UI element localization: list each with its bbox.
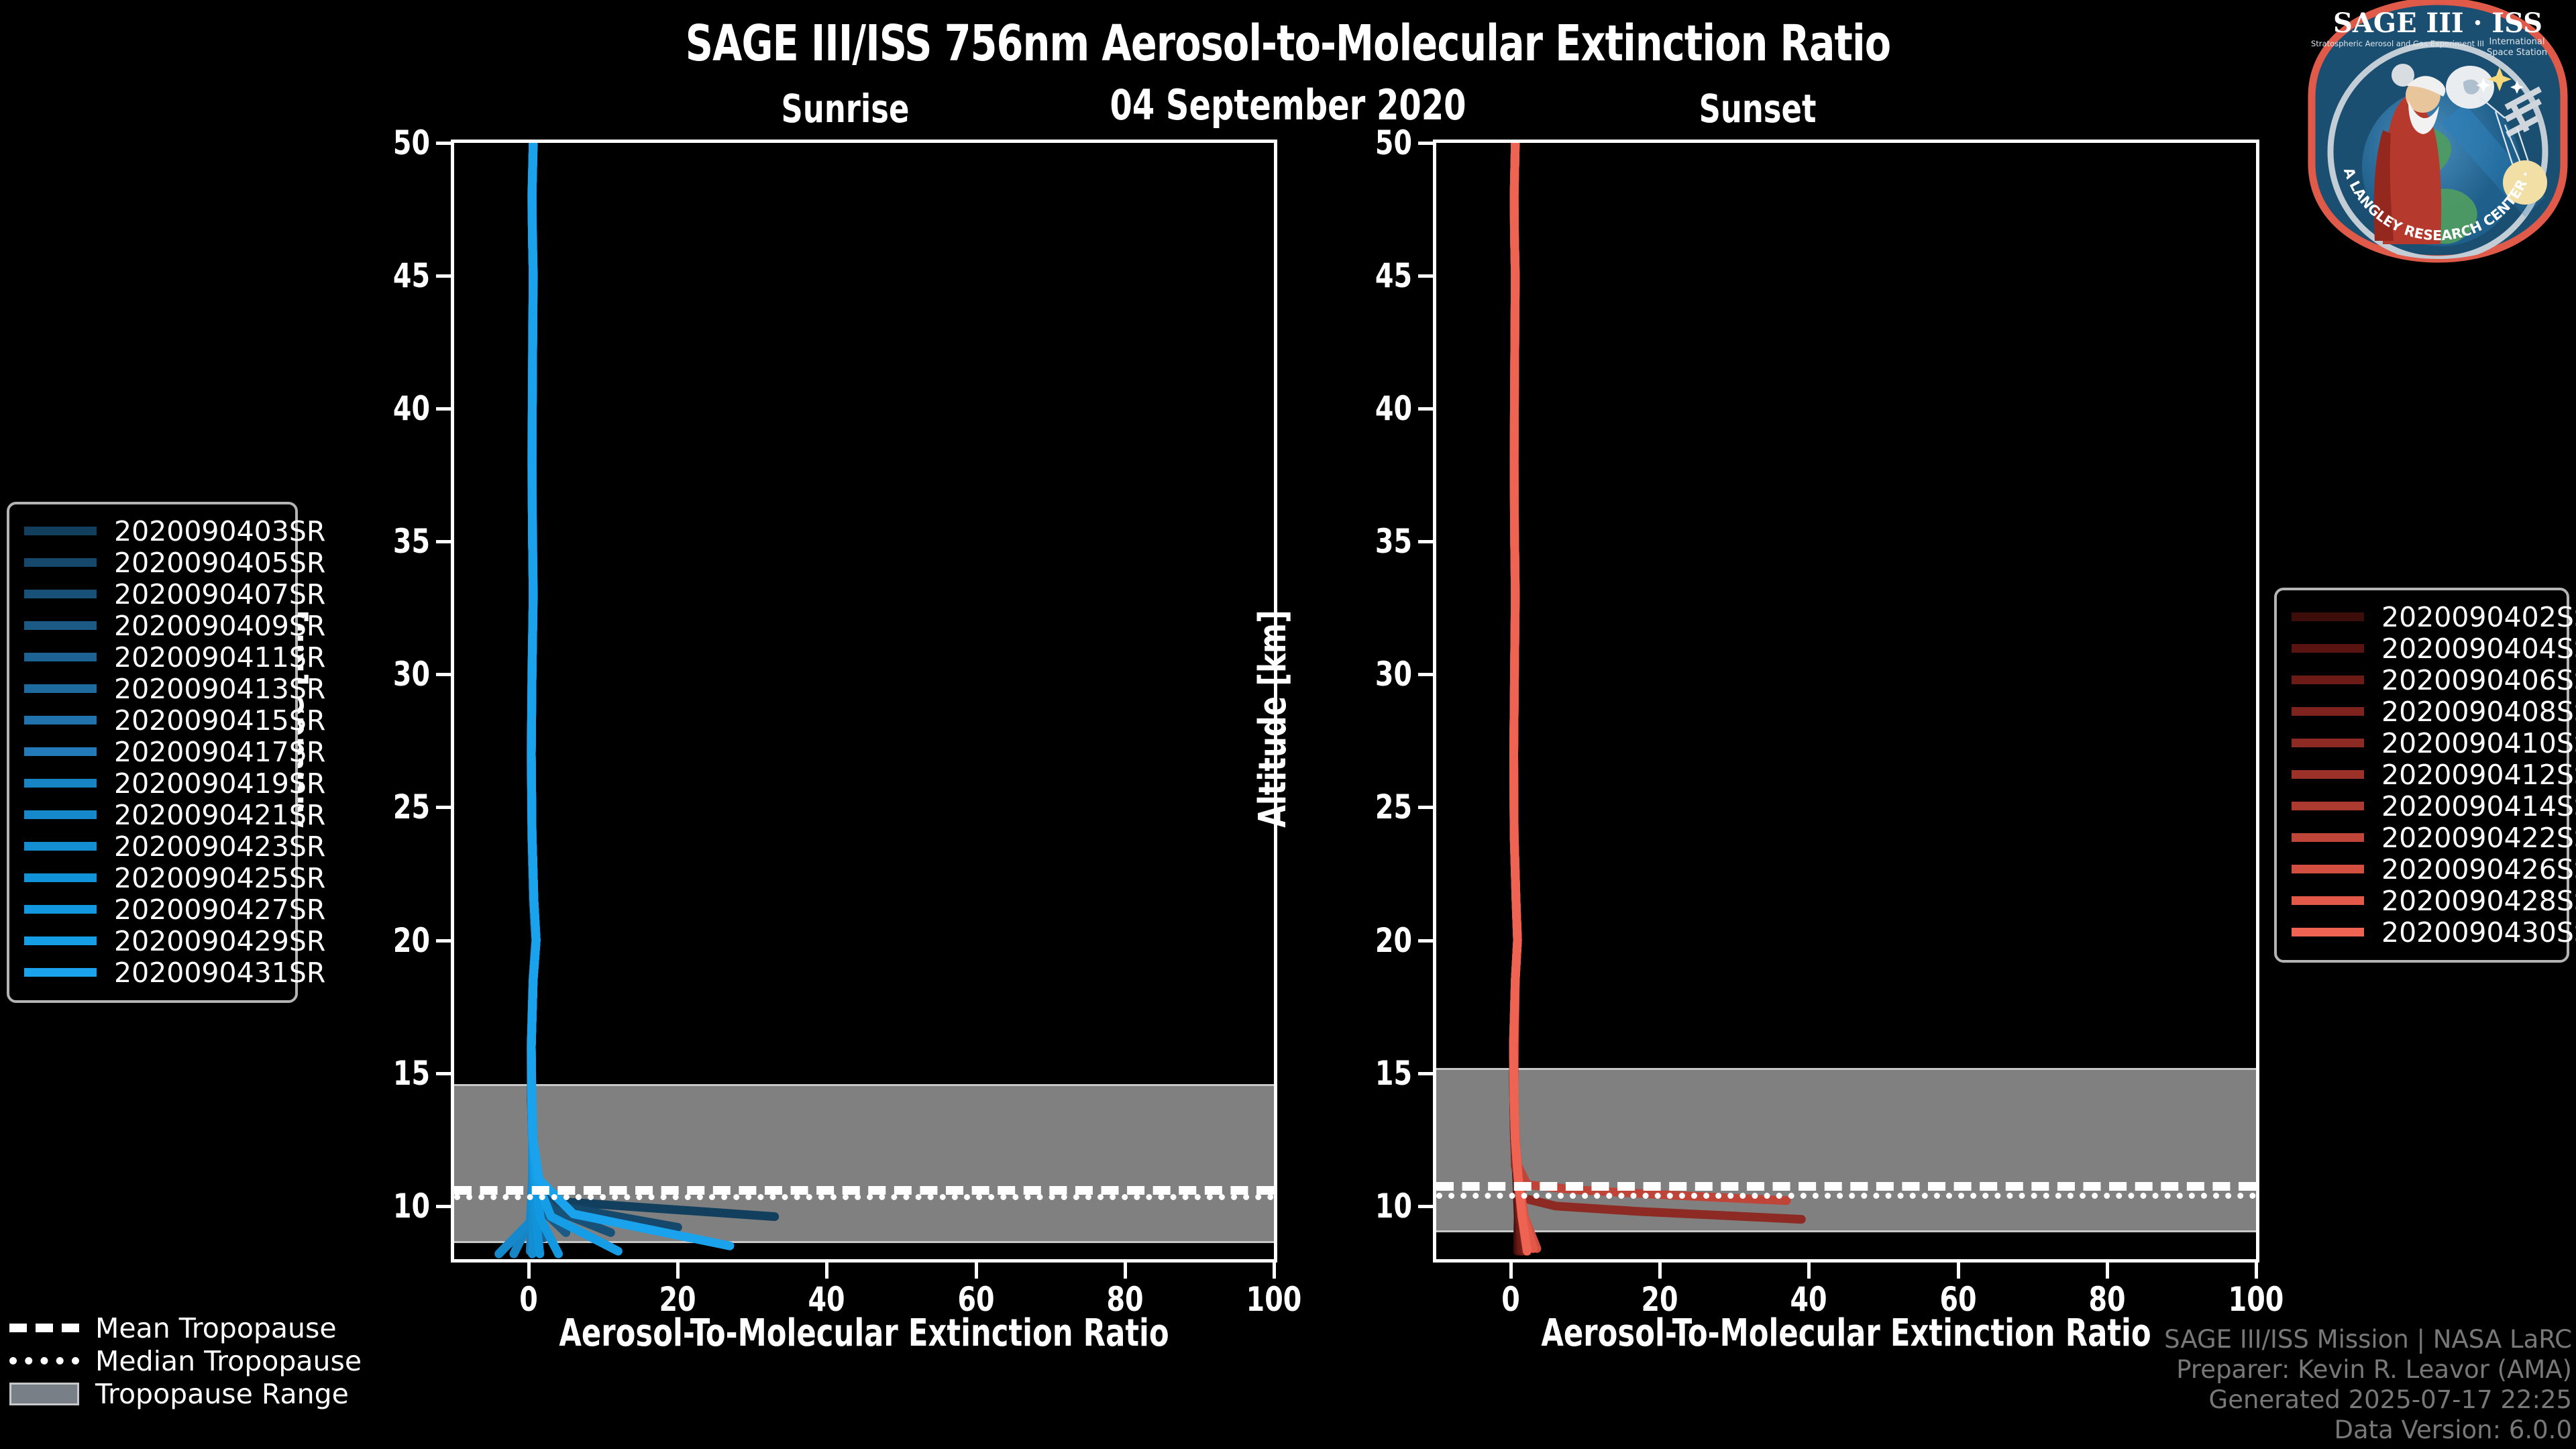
legend-label: 2020090431SR xyxy=(114,957,325,989)
legend-color-swatch xyxy=(24,936,97,945)
legend-label: 2020090425SR xyxy=(114,862,325,894)
legend-color-swatch xyxy=(2292,770,2364,779)
legend-item-tropopause-range: Tropopause Range xyxy=(9,1377,358,1410)
figure-subtitle-date: 04 September 2020 xyxy=(180,80,2396,129)
y-tick-mark xyxy=(1418,939,1433,943)
legend-color-swatch xyxy=(24,905,97,914)
y-tick-mark xyxy=(436,1072,451,1075)
credit-line: Preparer: Kevin R. Leavor (AMA) xyxy=(2164,1354,2572,1385)
legend-label: 2020090423SR xyxy=(114,830,325,863)
legend-color-swatch xyxy=(24,558,97,567)
patch-subtitle-right-1: International xyxy=(2489,37,2545,47)
legend-color-swatch xyxy=(2292,802,2364,810)
y-tick-mark xyxy=(1418,274,1433,278)
plot-area-sunset xyxy=(1433,140,2259,1263)
legend-item-mean-tropopause: Mean Tropopause xyxy=(9,1311,358,1344)
legend-color-swatch xyxy=(2292,865,2364,873)
legend-label: 2020090428SS xyxy=(2381,885,2576,917)
y-tick-label: 35 xyxy=(1324,522,1412,561)
legend-color-swatch xyxy=(24,716,97,724)
legend-color-swatch xyxy=(24,527,97,535)
legend-item[interactable]: 2020090407SR xyxy=(24,578,280,610)
legend-label: 2020090405SR xyxy=(114,547,325,579)
legend-item[interactable]: 2020090421SR xyxy=(24,799,280,830)
series-line xyxy=(531,143,610,1232)
y-tick-label: 50 xyxy=(1324,123,1412,162)
credit-line: SAGE III/ISS Mission | NASA LaRC xyxy=(2164,1324,2572,1354)
y-tick-mark xyxy=(436,142,451,145)
y-tick-label: 10 xyxy=(341,1187,430,1226)
y-tick-label: 30 xyxy=(1324,655,1412,694)
dotted-line-icon xyxy=(9,1357,79,1364)
legend-item[interactable]: 2020090430SS xyxy=(2292,916,2552,948)
legend-item[interactable]: 2020090412SS xyxy=(2292,759,2552,790)
series-line xyxy=(531,143,678,1228)
legend-color-swatch xyxy=(2292,833,2364,842)
x-tick-mark xyxy=(975,1263,978,1279)
legend-item[interactable]: 2020090415SR xyxy=(24,704,280,736)
x-tick-mark xyxy=(2106,1263,2109,1279)
y-tick-label: 50 xyxy=(341,123,430,162)
patch-title: SAGE III · ISS xyxy=(2333,7,2542,39)
y-tick-mark xyxy=(436,1205,451,1208)
median-tropopause-line xyxy=(1436,1193,2256,1199)
legend-item[interactable]: 2020090426SS xyxy=(2292,853,2552,885)
y-tick-label: 45 xyxy=(341,256,430,295)
legend-color-swatch xyxy=(24,810,97,819)
legend-color-swatch xyxy=(24,842,97,851)
y-tick-mark xyxy=(436,939,451,943)
y-tick-mark xyxy=(436,806,451,809)
y-tick-mark xyxy=(1418,407,1433,411)
legend-label: 2020090417SR xyxy=(114,736,325,768)
legend-tropopause: Mean Tropopause Median Tropopause Tropop… xyxy=(9,1311,358,1410)
y-tick-mark xyxy=(436,673,451,676)
series-line xyxy=(1514,143,1802,1220)
legend-item[interactable]: 2020090431SR xyxy=(24,957,280,988)
legend-color-swatch xyxy=(24,684,97,693)
x-tick-label: 100 xyxy=(2197,1280,2315,1319)
legend-item-median-tropopause: Median Tropopause xyxy=(9,1344,358,1377)
y-tick-label: 25 xyxy=(1324,788,1412,826)
panel-label-sunset: Sunset xyxy=(1642,86,1873,131)
legend-item[interactable]: 2020090419SR xyxy=(24,767,280,799)
credits-block: SAGE III/ISS Mission | NASA LaRCPreparer… xyxy=(2164,1324,2572,1446)
legend-color-swatch xyxy=(24,653,97,661)
legend-sunset-events[interactable]: 2020090402SS2020090404SS2020090406SS2020… xyxy=(2274,588,2569,963)
legend-color-swatch xyxy=(2292,896,2364,905)
figure-canvas: SAGE III/ISS 756nm Aerosol-to-Molecular … xyxy=(0,0,2576,1449)
legend-color-swatch xyxy=(24,968,97,977)
legend-label: 2020090413SR xyxy=(114,673,325,705)
legend-item[interactable]: 2020090422SS xyxy=(2292,822,2552,853)
legend-label: 2020090412SS xyxy=(2381,759,2576,791)
panel-label-sunrise: Sunrise xyxy=(730,86,961,131)
legend-color-swatch xyxy=(24,590,97,598)
x-tick-mark xyxy=(1273,1263,1276,1279)
y-tick-label: 35 xyxy=(341,522,430,561)
x-tick-mark xyxy=(1509,1263,1513,1279)
y-tick-mark xyxy=(436,407,451,411)
legend-label: 2020090419SR xyxy=(114,767,325,800)
legend-label: 2020090430SS xyxy=(2381,916,2576,949)
y-tick-mark xyxy=(436,540,451,543)
y-tick-label: 15 xyxy=(341,1054,430,1093)
legend-color-swatch xyxy=(2292,676,2364,684)
x-tick-mark xyxy=(825,1263,828,1279)
x-tick-mark xyxy=(1957,1263,1960,1279)
legend-label: 2020090410SS xyxy=(2381,727,2576,759)
legend-color-swatch xyxy=(24,873,97,882)
y-tick-mark xyxy=(1418,540,1433,543)
legend-color-swatch xyxy=(2292,707,2364,716)
legend-item[interactable]: 2020090404SS xyxy=(2292,633,2552,664)
legend-item[interactable]: 2020090409SR xyxy=(24,610,280,641)
legend-color-swatch xyxy=(2292,644,2364,653)
legend-label: 2020090411SR xyxy=(114,641,325,674)
page-title: SAGE III/ISS 756nm Aerosol-to-Molecular … xyxy=(180,15,2396,72)
legend-label: 2020090429SR xyxy=(114,925,325,957)
y-axis-title-sunset: Altitude [km] xyxy=(1251,610,1295,828)
x-axis-title-sunset: Aerosol-To-Molecular Extinction Ratio xyxy=(1491,1311,2202,1355)
legend-item[interactable]: 2020090414SS xyxy=(2292,790,2552,822)
legend-item[interactable]: 2020090417SR xyxy=(24,736,280,767)
series-layer xyxy=(454,143,1274,1259)
legend-label: 2020090427SR xyxy=(114,894,325,926)
legend-label: 2020090407SR xyxy=(114,578,325,610)
y-tick-mark xyxy=(1418,673,1433,676)
y-tick-label: 45 xyxy=(1324,256,1412,295)
legend-label-tropopause-range: Tropopause Range xyxy=(95,1378,349,1410)
y-tick-label: 30 xyxy=(341,655,430,694)
legend-item[interactable]: 2020090411SR xyxy=(24,641,280,673)
y-tick-label: 40 xyxy=(1324,389,1412,428)
legend-item[interactable]: 2020090410SS xyxy=(2292,727,2552,759)
legend-label: 2020090422SS xyxy=(2381,822,2576,854)
x-axis-title-sunrise: Aerosol-To-Molecular Extinction Ratio xyxy=(508,1311,1220,1355)
x-tick-mark xyxy=(527,1263,531,1279)
legend-label: 2020090403SR xyxy=(114,515,325,547)
legend-color-swatch xyxy=(24,779,97,788)
y-tick-label: 10 xyxy=(1324,1187,1412,1226)
plot-area-sunrise xyxy=(451,140,1277,1263)
median-tropopause-line xyxy=(454,1194,1274,1200)
series-line xyxy=(531,143,774,1217)
mean-tropopause-line xyxy=(1436,1182,2256,1191)
credit-line: Data Version: 6.0.0 xyxy=(2164,1415,2572,1445)
credit-line: Generated 2025-07-17 22:25 xyxy=(2164,1385,2572,1415)
legend-item[interactable]: 2020090425SR xyxy=(24,862,280,894)
legend-item[interactable]: 2020090406SS xyxy=(2292,664,2552,696)
legend-item[interactable]: 2020090427SR xyxy=(24,894,280,925)
y-tick-label: 40 xyxy=(341,389,430,428)
x-tick-mark xyxy=(1124,1263,1127,1279)
x-tick-mark xyxy=(1658,1263,1662,1279)
y-tick-mark xyxy=(436,274,451,278)
x-tick-mark xyxy=(2255,1263,2258,1279)
y-tick-mark xyxy=(1418,1072,1433,1075)
legend-label: 2020090404SS xyxy=(2381,633,2576,665)
series-layer xyxy=(1436,143,2256,1259)
legend-color-swatch xyxy=(2292,928,2364,936)
legend-item[interactable]: 2020090405SR xyxy=(24,547,280,578)
y-tick-mark xyxy=(1418,806,1433,809)
y-tick-label: 25 xyxy=(341,788,430,826)
legend-label: 2020090409SR xyxy=(114,610,325,642)
legend-label: 2020090402SS xyxy=(2381,601,2576,633)
legend-item[interactable]: 2020090428SS xyxy=(2292,885,2552,916)
legend-item[interactable]: 2020090413SR xyxy=(24,673,280,704)
legend-label: 2020090426SS xyxy=(2381,853,2576,885)
legend-label: 2020090415SR xyxy=(114,704,325,737)
y-tick-mark xyxy=(1418,142,1433,145)
legend-item[interactable]: 2020090423SR xyxy=(24,830,280,862)
y-tick-label: 20 xyxy=(341,921,430,960)
patch-subtitle-right-2: Space Station xyxy=(2487,48,2547,58)
sage3-iss-mission-patch-logo: SAGE III · ISS Stratospheric Aerosol and… xyxy=(2302,0,2573,264)
filled-box-icon xyxy=(9,1383,79,1405)
legend-label: 2020090408SS xyxy=(2381,696,2576,728)
legend-color-swatch xyxy=(24,747,97,756)
legend-item[interactable]: 2020090402SS xyxy=(2292,601,2552,633)
legend-label-median-tropopause: Median Tropopause xyxy=(95,1345,362,1377)
dashed-line-icon xyxy=(9,1324,79,1332)
legend-item[interactable]: 2020090408SS xyxy=(2292,696,2552,727)
y-tick-label: 15 xyxy=(1324,1054,1412,1093)
legend-label-mean-tropopause: Mean Tropopause xyxy=(95,1312,337,1344)
series-line xyxy=(1513,143,1527,1251)
legend-color-swatch xyxy=(2292,739,2364,747)
legend-color-swatch xyxy=(24,621,97,630)
legend-item[interactable]: 2020090429SR xyxy=(24,925,280,957)
legend-label: 2020090414SS xyxy=(2381,790,2576,822)
x-tick-label: 100 xyxy=(1215,1280,1333,1319)
legend-label: 2020090421SR xyxy=(114,799,325,831)
series-line xyxy=(531,143,618,1251)
y-tick-mark xyxy=(1418,1205,1433,1208)
legend-sunrise-events[interactable]: 2020090403SR2020090405SR2020090407SR2020… xyxy=(7,502,298,1003)
legend-item[interactable]: 2020090403SR xyxy=(24,515,280,547)
patch-subtitle-left: Stratospheric Aerosol and Gas Experiment… xyxy=(2311,39,2484,48)
series-line xyxy=(1514,143,1787,1201)
y-tick-label: 20 xyxy=(1324,921,1412,960)
x-tick-mark xyxy=(1807,1263,1811,1279)
x-tick-mark xyxy=(676,1263,680,1279)
legend-color-swatch xyxy=(2292,612,2364,621)
legend-label: 2020090406SS xyxy=(2381,664,2576,696)
series-line xyxy=(531,143,730,1246)
